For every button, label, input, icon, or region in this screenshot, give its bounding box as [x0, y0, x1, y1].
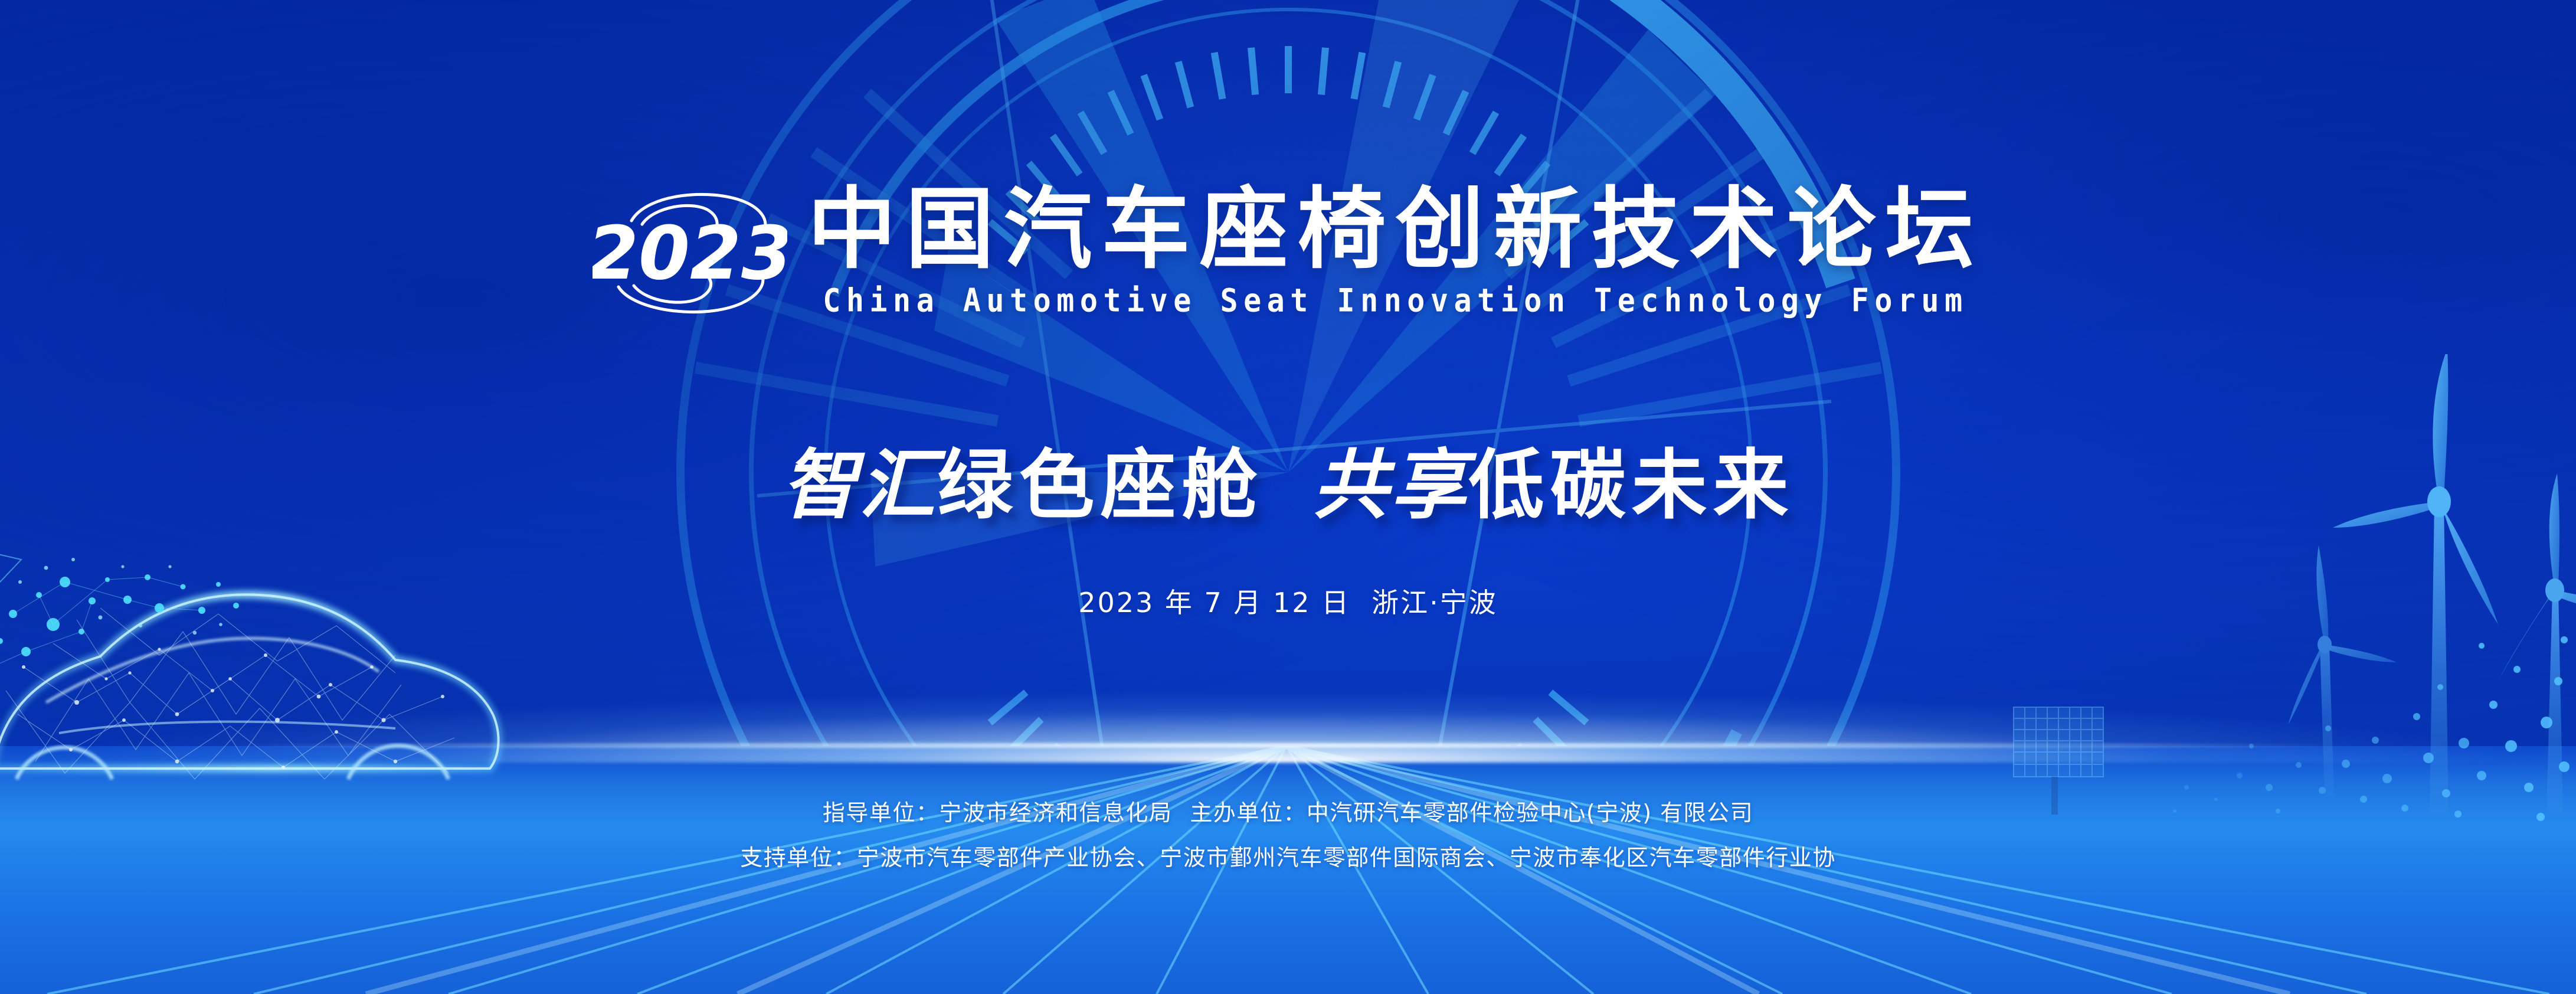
slogan-part-2: 绿色座舱	[937, 442, 1263, 529]
forum-title-cn: 中国汽车座椅创新技术论坛	[807, 185, 1983, 275]
support-unit-label: 支持单位：宁波市汽车零部件产业协会、宁波市鄞州汽车零部件国际商会、宁波市奉化区汽…	[740, 845, 1836, 871]
footer-line-2: 支持单位：宁波市汽车零部件产业协会、宁波市鄞州汽车零部件国际商会、宁波市奉化区汽…	[0, 846, 2576, 869]
forum-slogan: 智汇绿色座舱共享低碳未来	[0, 424, 2576, 533]
slogan-part-1: 智汇	[781, 441, 937, 529]
title-block: 中国汽车座椅创新技术论坛 China Automotive Seat Innov…	[807, 185, 1983, 318]
poster-content: 2023 中国汽车座椅创新技术论坛 China Automotive Seat …	[0, 0, 2576, 994]
forum-title-en: China Automotive Seat Innovation Technol…	[807, 282, 1983, 319]
slogan-part-4: 低碳未来	[1469, 442, 1795, 529]
footer-organizers: 指导单位：宁波市经济和信息化局主办单位：中汽研汽车零部件检验中心(宁波) 有限公…	[0, 802, 2576, 869]
slogan-part-3: 共享	[1313, 441, 1469, 529]
guidance-unit-label: 指导单位：宁波市经济和信息化局	[823, 800, 1173, 826]
title-row: 2023 中国汽车座椅创新技术论坛 China Automotive Seat …	[0, 177, 2576, 325]
year-badge-text: 2023	[593, 211, 787, 296]
host-unit-label: 主办单位：中汽研汽车零部件检验中心(宁波) 有限公司	[1190, 800, 1753, 826]
event-datebar: 2023 年 7 月 12 日浙江·宁波	[0, 581, 2576, 620]
event-location: 浙江·宁波	[1372, 587, 1498, 619]
year-badge-2023: 2023	[593, 177, 787, 325]
event-date: 2023 年 7 月 12 日	[1078, 587, 1350, 619]
poster-canvas: 2023 中国汽车座椅创新技术论坛 China Automotive Seat …	[0, 0, 2576, 994]
footer-line-1: 指导单位：宁波市经济和信息化局主办单位：中汽研汽车零部件检验中心(宁波) 有限公…	[0, 802, 2576, 824]
